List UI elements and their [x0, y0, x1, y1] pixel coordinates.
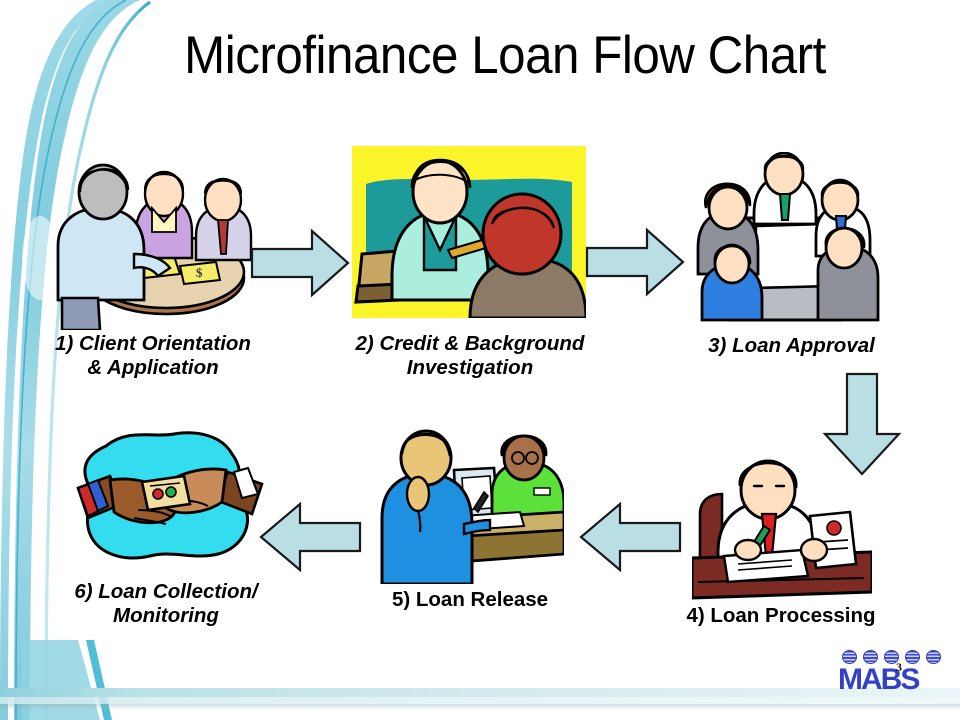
bottom-accent-bar-inner — [0, 697, 960, 704]
mabs-logo[interactable]: MABS 3 — [838, 650, 948, 698]
bottom-accent-bar-shadow — [0, 704, 960, 710]
mabs-logo-dot-icon — [863, 650, 878, 664]
step-label-5: 5) Loan Release — [330, 588, 610, 612]
svg-text:$: $ — [196, 265, 203, 280]
slide-canvas: Microfinance Loan Flow Chart $ — [0, 0, 960, 720]
step-node-6[interactable]: 6) Loan Collection/ Monitoring — [76, 428, 264, 581]
step-node-2[interactable]: 2) Credit & Background Investigation — [352, 146, 586, 323]
loan-officer-interview-clipart — [352, 146, 586, 318]
arrow-step2-to-step3 — [585, 226, 685, 298]
meeting-three-people-at-table-clipart: $ — [48, 150, 253, 330]
step-label-6: 6) Loan Collection/ Monitoring — [1, 580, 331, 628]
step-node-1[interactable]: $ 1) Client Orientation & Application — [48, 150, 253, 335]
mabs-logo-dot-icon — [842, 650, 857, 664]
page-title: Microfinance Loan Flow Chart — [124, 28, 887, 84]
step-node-4[interactable]: 4) Loan Processing — [692, 452, 872, 605]
clerk-signing-documents-at-desk-clipart — [692, 452, 872, 600]
arrow-step4-to-step5 — [578, 500, 682, 574]
step-label-3: 3) Loan Approval — [654, 334, 929, 358]
bottom-accent-bar — [0, 688, 960, 697]
arrow-step1-to-step2 — [250, 227, 350, 299]
step-label-2: 2) Credit & Background Investigation — [312, 332, 628, 380]
committee-around-flipchart-clipart — [692, 152, 890, 324]
mabs-logo-wordmark: MABS — [838, 665, 918, 695]
step-label-4: 4) Loan Processing — [620, 604, 942, 628]
mabs-logo-dot-icon — [926, 650, 941, 664]
mabs-logo-dot-icon — [905, 650, 920, 664]
arrow-step5-to-step6 — [258, 500, 362, 574]
bank-teller-counter-clipart — [378, 428, 564, 584]
mabs-logo-superscript: 3 — [896, 660, 902, 675]
step-node-5[interactable]: 5) Loan Release — [378, 428, 564, 589]
mabs-logo-dots — [842, 650, 941, 664]
step-label-1: 1) Client Orientation & Application — [8, 332, 298, 380]
step-node-3[interactable]: 3) Loan Approval — [692, 152, 890, 329]
hands-exchanging-card-clipart — [76, 428, 264, 576]
